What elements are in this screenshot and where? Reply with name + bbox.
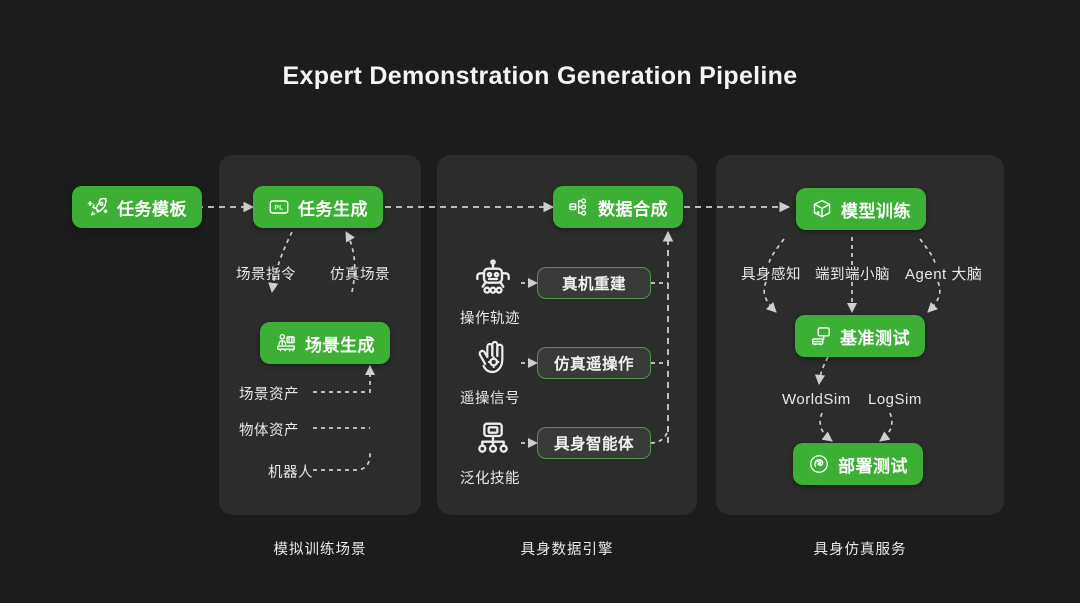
box-embodied-agent[interactable]: 具身智能体 <box>537 427 651 459</box>
data-sync-icon <box>568 196 590 218</box>
edge-label-worldsim: WorldSim <box>782 391 851 408</box>
edge-label-agent-brain: Agent 大脑 <box>905 263 982 284</box>
edge-label-logsim: LogSim <box>868 391 922 408</box>
robot-icon <box>472 258 514 298</box>
scene-worker-icon <box>275 332 297 354</box>
box-real-machine-reconstruction[interactable]: 真机重建 <box>537 267 651 299</box>
node-label: 部署测试 <box>838 452 908 477</box>
node-label: 模型训练 <box>841 197 911 222</box>
node-label: 任务生成 <box>298 195 368 220</box>
cube-train-icon <box>811 198 833 220</box>
network-chip-icon <box>472 418 514 458</box>
node-task-template[interactable]: 任务模板 <box>72 186 202 228</box>
row-label-operation-trajectory: 操作轨迹 <box>460 307 520 328</box>
input-label-scene-assets: 场景资产 <box>239 383 299 404</box>
panel-caption-embodied-data-engine: 具身数据引擎 <box>437 538 697 559</box>
panel-caption-embodied-simulation-service: 具身仿真服务 <box>716 538 1004 559</box>
input-label-object-assets: 物体资产 <box>239 419 299 440</box>
edge-label-simulation-scene: 仿真场景 <box>330 263 390 284</box>
node-task-generation[interactable]: PL 任务生成 <box>253 186 383 228</box>
panel-caption-simulation-training-scene: 模拟训练场景 <box>219 538 421 559</box>
node-scene-generation[interactable]: 场景生成 <box>260 322 390 364</box>
node-label: 场景生成 <box>305 331 375 356</box>
node-data-synthesis[interactable]: 数据合成 <box>553 186 683 228</box>
glove-icon <box>472 338 514 378</box>
edge-label-end-to-end-cerebellum: 端到端小脑 <box>815 263 890 284</box>
swirl-circle-icon <box>808 453 830 475</box>
input-label-robot: 机器人 <box>268 461 313 482</box>
node-model-training[interactable]: 模型训练 <box>796 188 926 230</box>
pl-frame-icon: PL <box>268 196 290 218</box>
node-deployment-test[interactable]: 部署测试 <box>793 443 923 485</box>
benchmark-screen-icon <box>810 325 832 347</box>
row-label-generalization-skill: 泛化技能 <box>460 467 520 488</box>
node-label: 数据合成 <box>598 195 668 220</box>
row-label-teleop-signal: 遥操信号 <box>460 387 520 408</box>
rocket-icon <box>87 196 109 218</box>
node-label: 基准测试 <box>840 324 910 349</box>
diagram-canvas: Expert Demonstration Generation Pipeline <box>0 0 1080 603</box>
page-title: Expert Demonstration Generation Pipeline <box>0 62 1080 91</box>
box-simulated-teleoperation[interactable]: 仿真遥操作 <box>537 347 651 379</box>
node-benchmark-test[interactable]: 基准测试 <box>795 315 925 357</box>
svg-text:PL: PL <box>274 204 283 211</box>
edge-label-embodied-perception: 具身感知 <box>741 263 801 284</box>
node-label: 任务模板 <box>117 195 187 220</box>
edge-label-scene-instruction: 场景指令 <box>236 263 296 284</box>
